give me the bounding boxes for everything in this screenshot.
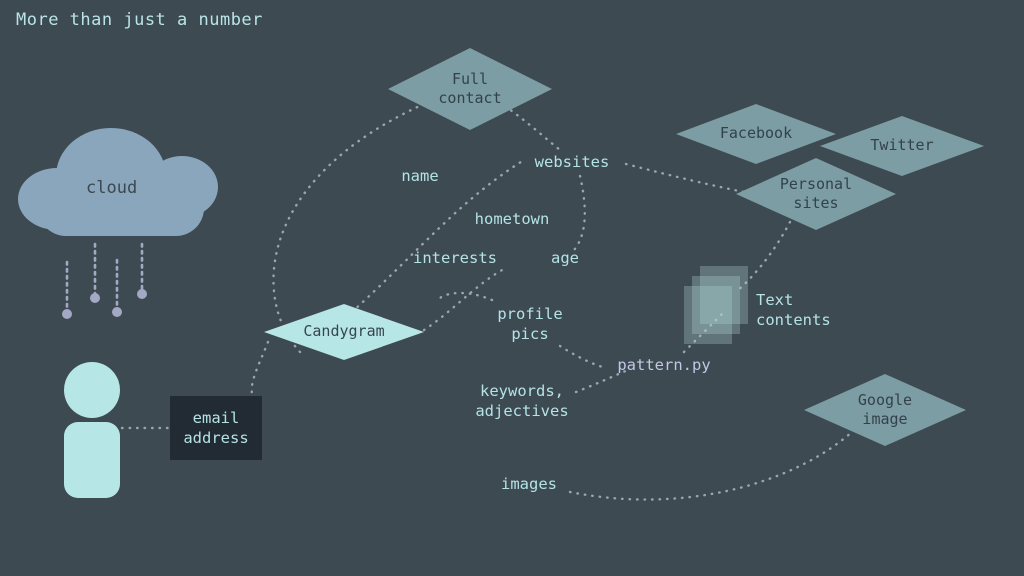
edge-candygram-email xyxy=(252,342,268,404)
person-body-icon xyxy=(64,422,120,498)
rain-drop-1 xyxy=(62,309,72,319)
edge-images-googleimage xyxy=(570,432,852,500)
label-interests: interests xyxy=(408,248,502,268)
edge-profilepics-arc xyxy=(440,293,492,300)
candygram-node[interactable]: Candygram xyxy=(264,304,424,360)
edge-websites-age xyxy=(574,176,585,250)
person-head-icon xyxy=(64,362,120,418)
rain-group xyxy=(50,242,170,332)
label-websites: websites xyxy=(526,152,618,172)
rain-drop-4 xyxy=(137,289,147,299)
cloud-label: cloud xyxy=(86,178,137,198)
rain-drop-3 xyxy=(112,307,122,317)
label-hometown: hometown xyxy=(466,209,558,229)
diagram-canvas: More than just a number xyxy=(0,0,1024,576)
label-profile-pics: profile pics xyxy=(488,304,572,344)
twitter-node[interactable]: Twitter xyxy=(820,116,984,176)
cloud-shape xyxy=(18,128,218,224)
edge-profilepics-patternpy xyxy=(560,346,606,368)
email-address-node[interactable]: email address xyxy=(170,396,262,460)
label-name: name xyxy=(396,166,444,186)
page-title: More than just a number xyxy=(16,10,263,30)
label-pattern-py: pattern.py xyxy=(608,355,720,375)
edge-websites-personalsites xyxy=(626,164,744,192)
google-image-node[interactable]: Google image xyxy=(804,374,966,446)
full-contact-node[interactable]: Full contact xyxy=(388,48,552,130)
label-age: age xyxy=(546,248,584,268)
personal-sites-node[interactable]: Personal sites xyxy=(736,158,896,230)
edge-fullcontact-websites xyxy=(505,106,560,150)
rain-drop-2 xyxy=(90,293,100,303)
label-keywords-adjectives: keywords, adjectives xyxy=(466,381,578,421)
label-images: images xyxy=(496,474,562,494)
document-icon-front xyxy=(684,286,732,344)
text-contents-label: Text contents xyxy=(756,290,852,330)
facebook-node[interactable]: Facebook xyxy=(676,104,836,164)
